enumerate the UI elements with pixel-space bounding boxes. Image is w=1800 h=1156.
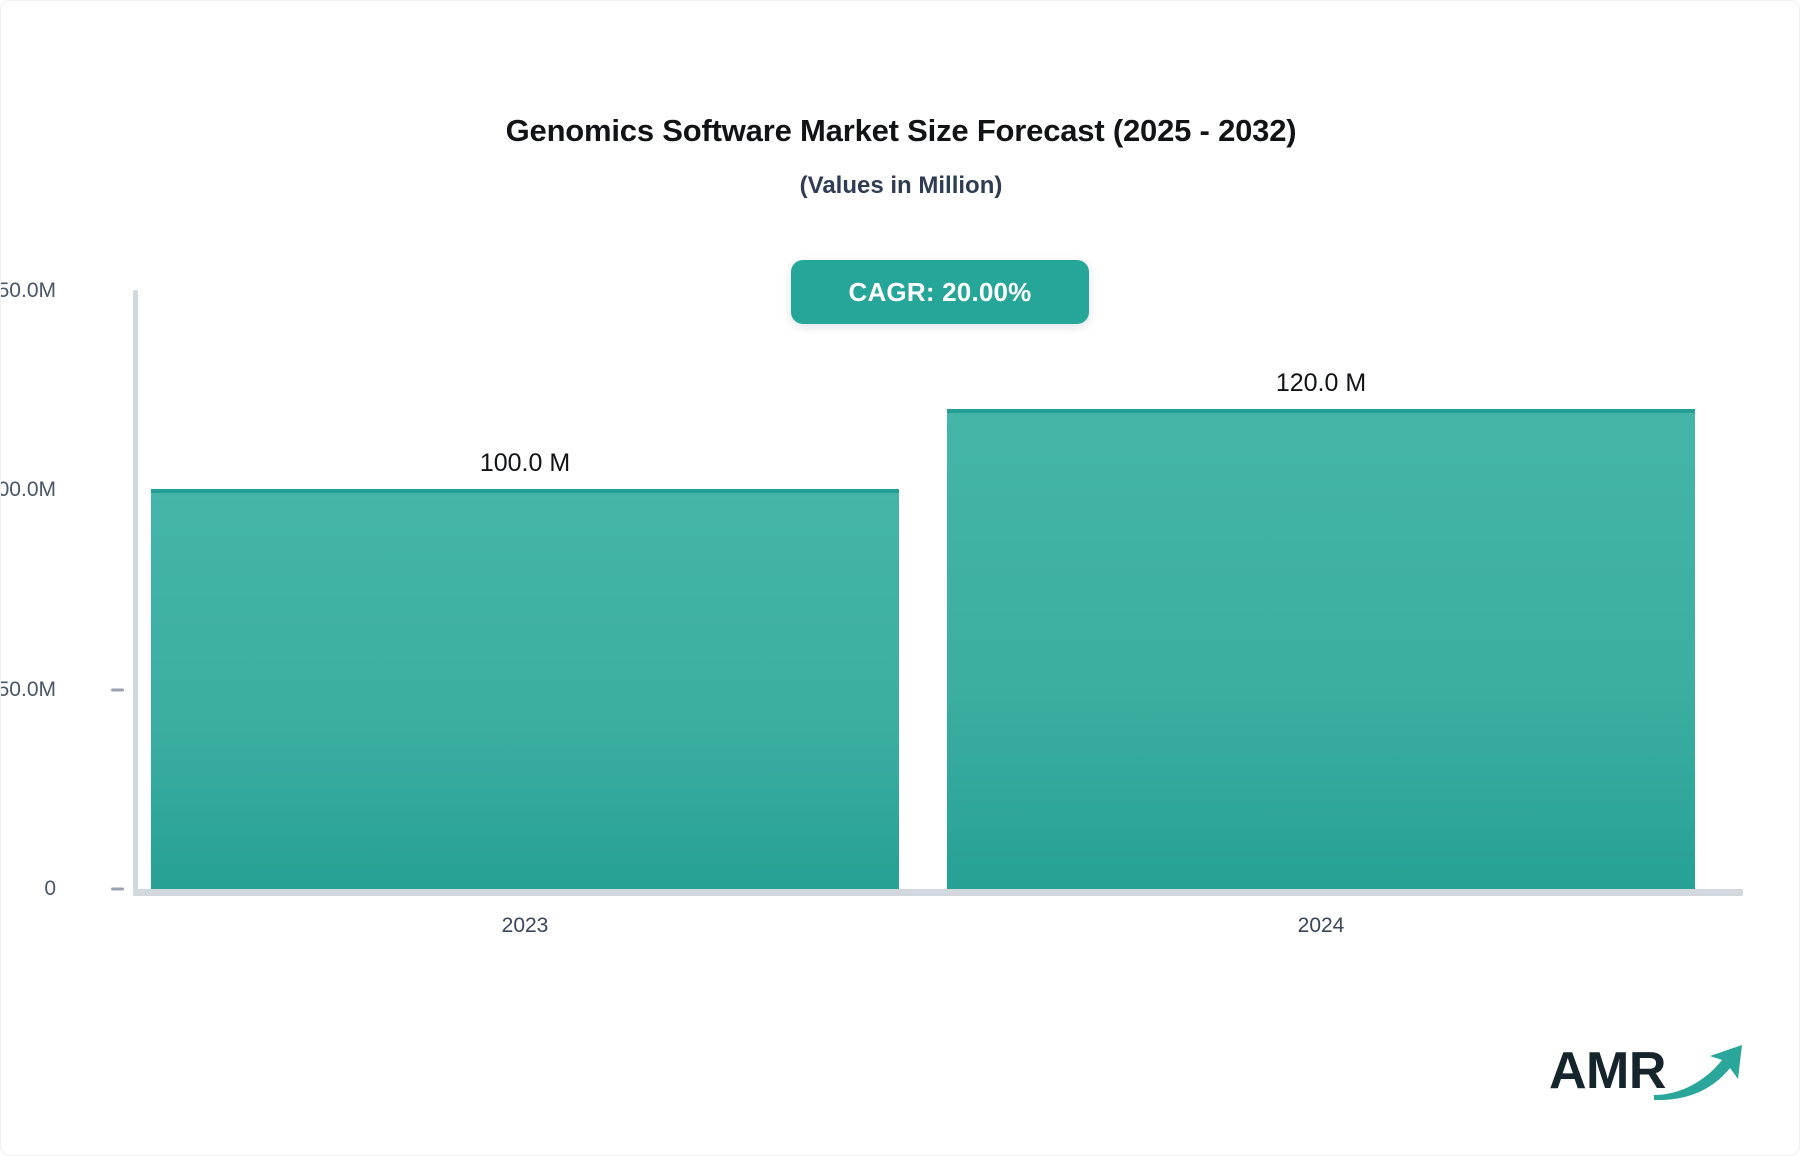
y-tick-label-150m: 150.0M — [0, 279, 56, 303]
y-axis-line — [133, 290, 138, 890]
y-tick-mark-0 — [111, 888, 124, 891]
amr-logo-text: AMR — [1549, 1045, 1666, 1097]
x-tick-label-2024: 2024 — [947, 914, 1695, 938]
bar-value-2024: 120.0 M — [947, 369, 1695, 398]
growth-arrow-icon — [1652, 1043, 1748, 1108]
x-axis-line — [133, 889, 1743, 896]
plot-area: 150.0M 100.0M 50.0M 0 100.0 M 2023 120.0… — [1, 1, 1800, 1156]
bar-cap-2024 — [947, 409, 1695, 413]
bar-value-2023: 100.0 M — [151, 449, 899, 478]
x-tick-label-2023: 2023 — [151, 914, 899, 938]
y-tick-label-0: 0 — [44, 877, 56, 901]
bar-2024[interactable] — [947, 409, 1695, 889]
amr-logo: AMR — [1549, 1033, 1748, 1108]
y-tick-label-50m: 50.0M — [0, 678, 56, 702]
chart-card: Genomics Software Market Size Forecast (… — [0, 0, 1800, 1156]
y-tick-mark-50m — [111, 689, 124, 692]
bar-2023[interactable] — [151, 489, 899, 889]
bar-cap-2023 — [151, 489, 899, 493]
y-tick-label-100m: 100.0M — [0, 478, 56, 502]
